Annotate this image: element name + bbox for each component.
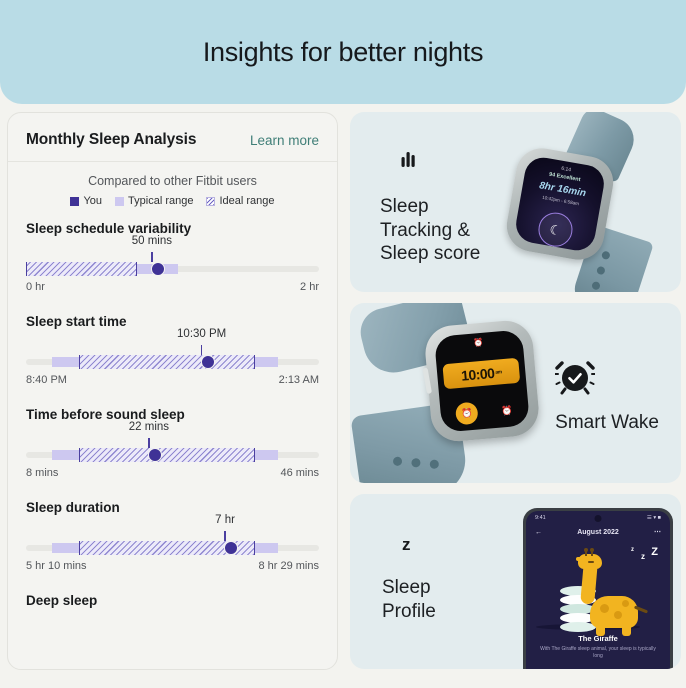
endpoint-max: 2 hr <box>300 281 319 293</box>
card-text-block: Sleep Tracking & Sleep score <box>380 145 480 266</box>
metric-slider[interactable]: 22 mins <box>26 448 319 462</box>
metric-name: Sleep schedule variability <box>26 221 319 236</box>
hero-banner: Insights for better nights <box>0 0 686 104</box>
giraffe-spot <box>600 604 609 613</box>
ideal-range-band <box>26 262 137 276</box>
legend-label-typical: Typical range <box>128 195 193 207</box>
slider-endpoints: 0 hr 2 hr <box>26 281 319 293</box>
typical-range-swatch-icon <box>115 197 124 206</box>
giraffe-eye <box>588 561 594 563</box>
marker-stem <box>224 531 226 541</box>
analysis-card-header: Monthly Sleep Analysis Learn more <box>8 113 337 162</box>
card-label-line: Sleep <box>382 576 436 600</box>
giraffe-body <box>590 596 638 628</box>
page-title: Insights for better nights <box>203 37 483 68</box>
back-arrow-icon[interactable]: ← <box>535 529 542 536</box>
ideal-range-swatch-icon <box>206 197 215 206</box>
card-label-line: Profile <box>382 600 436 624</box>
alarm-time-chip: 10:00am <box>442 358 520 390</box>
smartwatch-sleep-score: 6:14 94 Excellent 8hr 16min 10:42pm - 6:… <box>477 114 681 292</box>
watch-side-button[interactable] <box>423 368 432 394</box>
slider-endpoints: 5 hr 10 mins 8 hr 29 mins <box>26 560 319 572</box>
metric-name: Deep sleep <box>26 593 319 608</box>
moon-bars-icon <box>380 145 480 184</box>
marker-stem <box>151 252 153 262</box>
endpoint-max: 46 mins <box>280 467 319 479</box>
moon-icon: ☾ <box>549 222 563 237</box>
left-column: Monthly Sleep Analysis Learn more Compar… <box>7 112 338 688</box>
feature-card-sleep-profile[interactable]: z Sleep Profile 9:41 ☰ ▾ ■ ← <box>350 494 681 669</box>
metric-name: Sleep start time <box>26 314 319 329</box>
card-text-block: Smart Wake <box>555 357 659 435</box>
card-label-line: Sleep <box>380 195 480 219</box>
sleep-animal-subtext: With The Giraffe sleep animal, your slee… <box>526 646 670 660</box>
legend-item-ideal: Ideal range <box>206 195 274 207</box>
card-label-line: Sleep score <box>380 242 480 266</box>
feature-card-sleep-tracking[interactable]: Sleep Tracking & Sleep score 6:14 94 Exc… <box>350 112 681 292</box>
alarm-check-icon <box>555 357 659 400</box>
nav-title: August 2022 <box>577 529 619 536</box>
legend-row: You Typical range Ideal range <box>8 195 337 207</box>
marker-value-label: 22 mins <box>129 421 169 433</box>
endpoint-max: 2:13 AM <box>279 374 319 386</box>
card-label-line: Tracking & <box>380 219 480 243</box>
metric-row: Time before sound sleep 22 mins 8 mins 4… <box>26 407 319 479</box>
svg-text:z: z <box>402 535 411 554</box>
you-marker-dot[interactable]: 22 mins <box>148 448 162 462</box>
card-label-line: Smart Wake <box>555 411 659 435</box>
giraffe-spot <box>614 611 622 619</box>
marker-value-label: 10:30 PM <box>177 328 226 340</box>
phone-sleep-profile: 9:41 ☰ ▾ ■ ← August 2022 ⋯ Zzz <box>523 508 673 669</box>
alarm-off-icon[interactable]: ⏰ <box>501 405 513 417</box>
alarm-icon: ⏰ <box>473 338 484 348</box>
marker-value-label: 50 mins <box>132 235 172 247</box>
metric-slider[interactable]: 50 mins <box>26 262 319 276</box>
ideal-range-band <box>79 355 255 369</box>
you-swatch-icon <box>70 197 79 206</box>
slider-endpoints: 8 mins 46 mins <box>26 467 319 479</box>
endpoint-min: 8:40 PM <box>26 374 67 386</box>
metric-name: Time before sound sleep <box>26 407 319 422</box>
metric-slider[interactable]: 7 hr <box>26 541 319 555</box>
you-marker-dot[interactable]: 50 mins <box>151 262 165 276</box>
endpoint-max: 8 hr 29 mins <box>258 560 319 572</box>
legend-item-you: You <box>70 195 102 207</box>
pillow <box>560 622 596 632</box>
card-label: Smart Wake <box>555 411 659 435</box>
legend-item-typical: Typical range <box>115 195 193 207</box>
metric-slider[interactable]: 10:30 PM <box>26 355 319 369</box>
marker-stem <box>148 438 150 448</box>
metrics-list: Sleep schedule variability 50 mins 0 hr … <box>8 211 337 608</box>
you-marker-dot[interactable]: 7 hr <box>224 541 238 555</box>
metric-name: Sleep duration <box>26 500 319 515</box>
ideal-range-band <box>79 448 255 462</box>
you-marker-dot[interactable]: 10:30 PM <box>201 355 215 369</box>
endpoint-min: 5 hr 10 mins <box>26 560 87 572</box>
card-text-block: z Sleep Profile <box>382 526 436 623</box>
analysis-title: Monthly Sleep Analysis <box>26 131 196 149</box>
phone-camera-notch <box>595 515 602 522</box>
learn-more-link[interactable]: Learn more <box>250 133 319 148</box>
watch-screen: ⏰ 10:00am ⏰ ⏰ <box>434 329 530 432</box>
right-column: Sleep Tracking & Sleep score 6:14 94 Exc… <box>350 112 681 688</box>
sleep-score-ring: ☾ <box>536 210 575 249</box>
legend-label-ideal: Ideal range <box>219 195 274 207</box>
phone-nav-bar: ← August 2022 ⋯ <box>526 521 670 536</box>
card-label: Sleep Profile <box>382 576 436 623</box>
more-icon[interactable]: ⋯ <box>654 528 661 536</box>
alarm-meridiem: am <box>495 369 502 376</box>
watch-screen: 6:14 94 Excellent 8hr 16min 10:42pm - 6:… <box>513 155 607 254</box>
alarm-time: 10:00 <box>460 364 495 383</box>
marker-stem <box>201 345 203 355</box>
card-label: Sleep Tracking & Sleep score <box>380 195 480 266</box>
legend-label-you: You <box>83 195 102 207</box>
giraffe-horn <box>591 550 593 556</box>
status-indicators-icon: ☰ ▾ ■ <box>647 515 661 521</box>
monthly-sleep-analysis-card: Monthly Sleep Analysis Learn more Compar… <box>7 112 338 670</box>
alarm-action-button[interactable]: ⏰ <box>455 402 479 426</box>
moon-z-icon: z <box>382 526 436 565</box>
marker-value-label: 7 hr <box>215 514 235 526</box>
endpoint-min: 0 hr <box>26 281 45 293</box>
feature-card-smart-wake[interactable]: ⏰ 10:00am ⏰ ⏰ <box>350 303 681 483</box>
sleep-animal-illustration: Zzz <box>526 540 670 632</box>
metric-row: Deep sleep <box>26 593 319 608</box>
metric-row: Sleep duration 7 hr 5 hr 10 mins 8 hr 29… <box>26 500 319 572</box>
giraffe-ear <box>576 557 582 561</box>
watch-case: ⏰ 10:00am ⏰ ⏰ <box>423 319 541 444</box>
smartwatch-smart-wake: ⏰ 10:00am ⏰ ⏰ <box>354 303 559 483</box>
metric-row: Sleep start time 10:30 PM 8:40 PM 2:13 A… <box>26 314 319 386</box>
legend-caption: Compared to other Fitbit users <box>8 174 337 188</box>
legend-block: Compared to other Fitbit users You Typic… <box>8 162 337 211</box>
status-time: 9:41 <box>535 515 546 521</box>
content-columns: Monthly Sleep Analysis Learn more Compar… <box>0 112 686 688</box>
giraffe-spot <box>622 600 629 607</box>
endpoint-min: 8 mins <box>26 467 58 479</box>
slider-endpoints: 8:40 PM 2:13 AM <box>26 374 319 386</box>
giraffe-horn <box>585 550 587 556</box>
watch-case: 6:14 94 Excellent 8hr 16min 10:42pm - 6:… <box>503 144 618 263</box>
phone-screen: 9:41 ☰ ▾ ■ ← August 2022 ⋯ Zzz <box>526 511 670 669</box>
metric-row: Sleep schedule variability 50 mins 0 hr … <box>26 221 319 293</box>
